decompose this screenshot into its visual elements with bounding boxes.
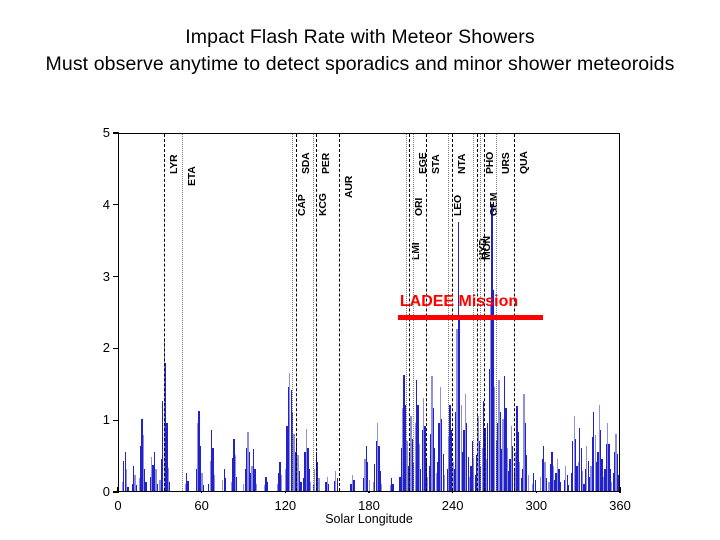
shower-line-sta [426,134,427,491]
x-tick-label: 60 [182,499,222,512]
data-spike [157,484,158,491]
x-axis-label: Solar Longitude [118,512,620,526]
shower-line-per [316,134,317,491]
impact-flash-rate-chart: Number per hour Solar Longitude 012345 0… [0,100,720,540]
slide-canvas: Impact Flash Rate with Meteor Showers Mu… [0,0,720,540]
data-spike [328,484,329,491]
shower-line-nta [452,134,453,491]
data-spike [169,482,170,491]
shower-label-eta: ETA [186,166,198,186]
shower-line-mon [477,134,478,491]
ladee-mission-label: LADEE Mission [400,293,518,311]
data-spike [187,481,188,491]
data-spike [568,485,569,491]
shower-label-lmi: LMI [410,243,422,260]
shower-line-eta [182,134,183,491]
shower-line-ori [409,134,410,491]
shower-label-qua: QUA [518,151,530,174]
data-spike [353,480,354,491]
x-tick-label: 360 [600,499,640,512]
x-tick-label: 0 [98,499,138,512]
shower-label-sta: STA [430,154,442,174]
shower-line-cap [292,134,293,491]
data-spike [256,484,257,491]
shower-line-ege [413,134,414,491]
y-tick-label: 3 [84,270,110,283]
shower-label-lyr: LYR [168,155,180,174]
shower-label-nta: NTA [456,154,468,174]
y-tick-label: 0 [84,485,110,498]
shower-line-qua [514,134,515,491]
data-spike [300,482,301,491]
title-line-1: Impact Flash Rate with Meteor Showers [0,24,720,51]
data-spike [535,480,536,491]
y-tick-label: 2 [84,341,110,354]
shower-line-lmi [406,134,407,491]
shower-line-sda [296,134,297,491]
shower-line-hyd [473,134,474,491]
shower-line-urs [496,134,497,491]
shower-line-gem [484,134,485,491]
data-spike [392,484,393,491]
ladee-mission-bar [398,315,543,320]
x-tick-label: 180 [349,499,389,512]
shower-label-per: PER [320,153,332,174]
data-spike [337,478,338,491]
data-spike [318,478,319,491]
data-spike [236,477,237,491]
title-line-2: Must observe anytime to detect sporadics… [0,51,720,78]
data-spike [281,475,282,491]
shower-line-leo [448,134,449,491]
shower-label-mon: MON [481,236,493,260]
data-spike [145,482,146,491]
x-tick-label: 240 [433,499,473,512]
shower-line-aur [339,134,340,491]
x-tick-label: 120 [265,499,305,512]
data-spike [136,485,137,491]
data-spike [267,482,268,491]
y-tick-label: 1 [84,413,110,426]
y-tick-label: 4 [84,198,110,211]
data-spike [310,482,311,491]
data-spike [528,475,529,491]
data-spike [381,484,382,491]
page-title: Impact Flash Rate with Meteor Showers Mu… [0,24,720,78]
data-spike [127,487,128,491]
shower-line-pho [480,134,481,491]
shower-line-kcg [313,134,314,491]
data-spike [546,478,547,491]
shower-label-cap: CAP [296,194,308,216]
shower-label-ege: EGE [417,152,429,174]
shower-label-aur: AUR [343,176,355,198]
shower-label-gem: GEM [488,193,500,216]
data-spike [225,478,226,491]
y-tick-label: 5 [84,126,110,139]
data-spike [444,475,445,491]
data-spike [560,482,561,491]
data-spike [203,485,204,491]
shower-label-leo: LEO [452,195,464,216]
shower-label-ori: ORI [413,198,425,216]
shower-label-sda: SDA [300,152,312,174]
data-spike [214,475,215,491]
shower-label-urs: URS [500,152,512,174]
plot-area: LYRETACAPSDAKCGPERAURLMIORIEGESTALEONTAH… [118,133,620,492]
shower-label-pho: PHO [484,152,496,174]
x-tick-label: 300 [516,499,556,512]
shower-label-kcg: KCG [317,193,329,216]
data-spike [369,480,370,491]
shower-line-lyr [164,134,165,491]
